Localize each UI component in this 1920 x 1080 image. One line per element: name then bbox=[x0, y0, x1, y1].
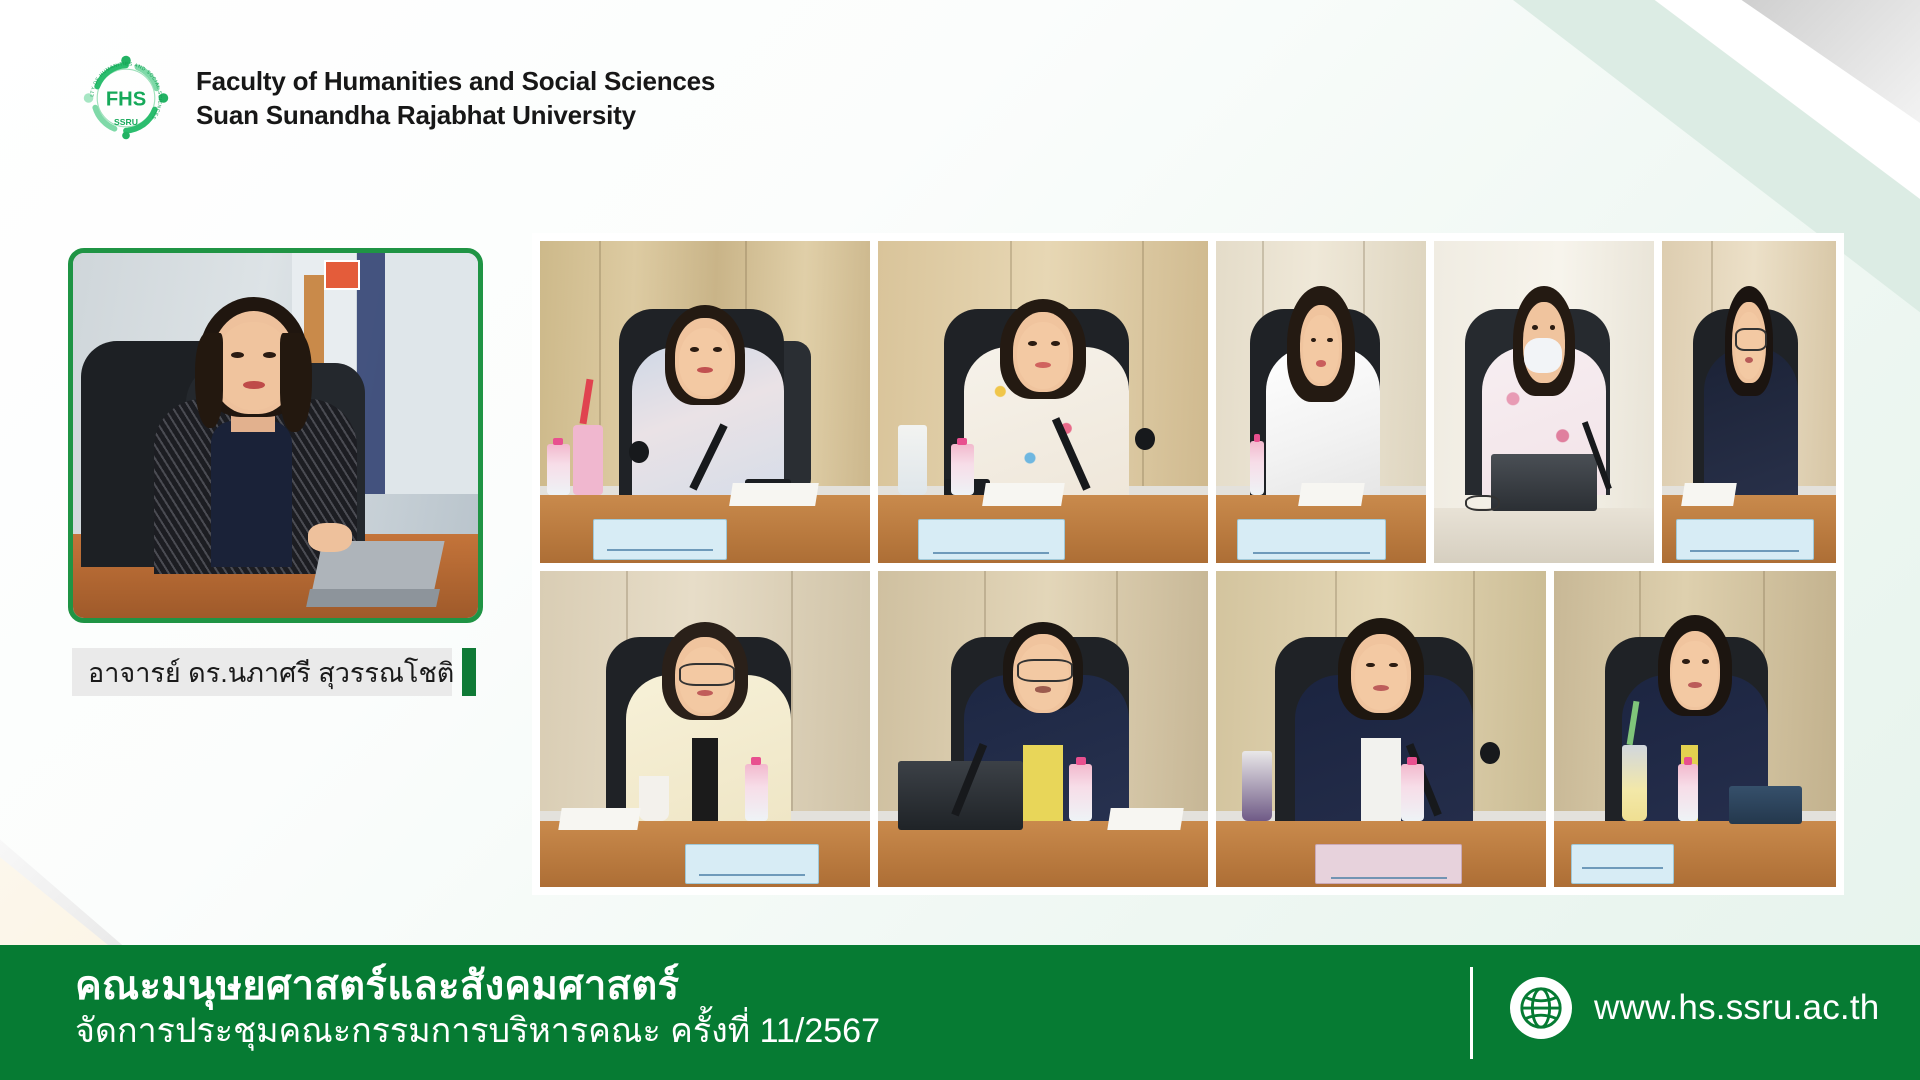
header: FACULTY OF HUMANITIES AND SOCIAL SCIENCE… bbox=[78, 50, 715, 146]
featured-portrait-caption-text: อาจารย์ ดร.นภาศรี สุวรรณโชติ bbox=[72, 651, 454, 694]
footer-subheadline: จัดการประชุมคณะกรรมการบริหารคณะ ครั้งที่… bbox=[75, 1010, 880, 1053]
featured-portrait-photo bbox=[73, 253, 478, 618]
header-title-line-1: Faculty of Humanities and Social Science… bbox=[196, 64, 715, 98]
featured-portrait-caption: อาจารย์ ดร.นภาศรี สุวรรณโชติ bbox=[72, 648, 452, 696]
footer-divider bbox=[1470, 967, 1473, 1059]
featured-portrait-frame bbox=[68, 248, 483, 623]
footer-website-block[interactable]: www.hs.ssru.ac.th bbox=[1510, 977, 1879, 1039]
website-url[interactable]: www.hs.ssru.ac.th bbox=[1594, 988, 1879, 1028]
gallery-photo-6 bbox=[540, 571, 870, 887]
caption-accent-bar bbox=[462, 648, 476, 696]
footer-headline: คณะมนุษยศาสตร์และสังคมศาสตร์ bbox=[75, 963, 880, 1010]
globe-icon bbox=[1510, 977, 1572, 1039]
gallery-photo-4 bbox=[1434, 241, 1654, 563]
gallery-photo-7 bbox=[878, 571, 1208, 887]
header-title-block: Faculty of Humanities and Social Science… bbox=[196, 64, 715, 133]
svg-text:SSRU: SSRU bbox=[114, 117, 138, 127]
photo-gallery bbox=[532, 233, 1844, 895]
gallery-photo-5 bbox=[1662, 241, 1836, 563]
gallery-photo-1 bbox=[540, 241, 870, 563]
footer-bar: คณะมนุษยศาสตร์และสังคมศาสตร์ จัดการประชุ… bbox=[0, 945, 1920, 1080]
svg-text:FHS: FHS bbox=[106, 89, 146, 111]
gallery-row-1 bbox=[540, 241, 1836, 563]
header-title-line-2: Suan Sunandha Rajabhat University bbox=[196, 98, 715, 132]
gallery-photo-8 bbox=[1216, 571, 1546, 887]
gallery-row-2 bbox=[540, 571, 1836, 887]
gallery-photo-2 bbox=[878, 241, 1208, 563]
gallery-photo-9 bbox=[1554, 571, 1836, 887]
gallery-photo-3 bbox=[1216, 241, 1426, 563]
footer-text-block: คณะมนุษยศาสตร์และสังคมศาสตร์ จัดการประชุ… bbox=[75, 963, 880, 1053]
faculty-logo-icon: FACULTY OF HUMANITIES AND SOCIAL SCIENCE… bbox=[78, 50, 174, 146]
